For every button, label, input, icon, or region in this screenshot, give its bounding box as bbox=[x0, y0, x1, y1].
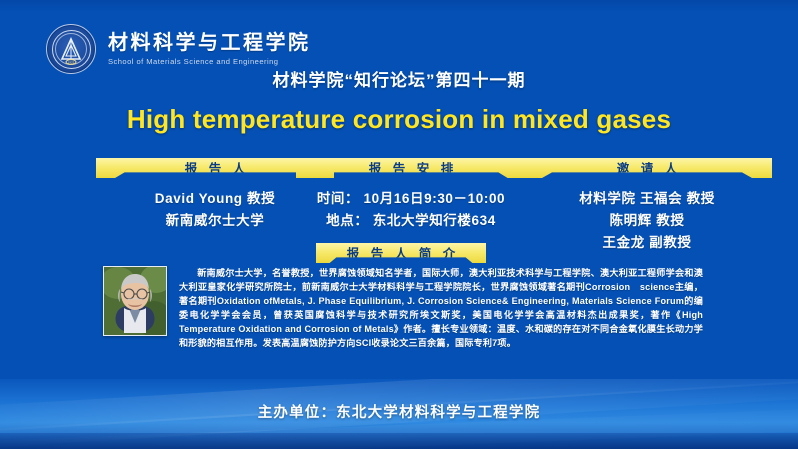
school-name-en: School of Materials Science and Engineer… bbox=[108, 57, 311, 66]
invite-column: 邀 请 人 材料学院 王福会 教授 陈明辉 教授 王金龙 副教授 bbox=[522, 158, 772, 254]
invite-badge-label: 邀 请 人 bbox=[617, 158, 681, 177]
schedule-badge-label: 报 告 安 排 bbox=[369, 158, 457, 177]
schedule-column: 报 告 安 排 时间： 10月16日9:30－10:00 地点： 东北大学知行楼… bbox=[296, 158, 526, 232]
bio-badge: 报 告 人 简 介 bbox=[316, 243, 486, 263]
invite-lines: 材料学院 王福会 教授 陈明辉 教授 王金龙 副教授 bbox=[522, 188, 772, 254]
schedule-badge: 报 告 安 排 bbox=[296, 158, 526, 178]
speaker-portrait bbox=[103, 266, 167, 336]
lecture-title: High temperature corrosion in mixed gase… bbox=[0, 104, 798, 135]
poster-root: 1923 材料科学与工程学院 School of Materials Scien… bbox=[0, 0, 798, 449]
invitee-3: 王金龙 副教授 bbox=[522, 232, 772, 254]
footer-band: 主办单位：东北大学材料科学与工程学院 bbox=[0, 379, 798, 449]
bio-badge-label: 报 告 人 简 介 bbox=[347, 243, 459, 262]
svg-text:1923: 1923 bbox=[68, 60, 75, 64]
bio-text: 新南威尔士大学，名誉教授，世界腐蚀领域知名学者，国际大师，澳大利亚技术科学与工程… bbox=[179, 266, 703, 351]
schedule-time: 时间： 10月16日9:30－10:00 bbox=[296, 188, 526, 210]
invitee-1: 材料学院 王福会 教授 bbox=[522, 188, 772, 210]
bio-badge-wrap: 报 告 人 简 介 bbox=[316, 243, 486, 263]
speaker-badge-label: 报 告 人 bbox=[185, 158, 249, 177]
school-name-cn: 材料科学与工程学院 bbox=[108, 32, 311, 54]
school-wordmark: 材料科学与工程学院 School of Materials Science an… bbox=[108, 32, 311, 66]
schedule-lines: 时间： 10月16日9:30－10:00 地点： 东北大学知行楼634 bbox=[296, 188, 526, 232]
top-sheen bbox=[0, 0, 798, 12]
invite-badge: 邀 请 人 bbox=[522, 158, 772, 178]
schedule-location: 地点： 东北大学知行楼634 bbox=[296, 210, 526, 232]
invitee-2: 陈明辉 教授 bbox=[522, 210, 772, 232]
series-title: 材料学院“知行论坛”第四十一期 bbox=[0, 66, 798, 91]
organizer-text: 主办单位：东北大学材料科学与工程学院 bbox=[0, 401, 798, 422]
footer-shadow bbox=[0, 433, 798, 449]
bio-block: 新南威尔士大学，名誉教授，世界腐蚀领域知名学者，国际大师，澳大利亚技术科学与工程… bbox=[103, 266, 703, 351]
